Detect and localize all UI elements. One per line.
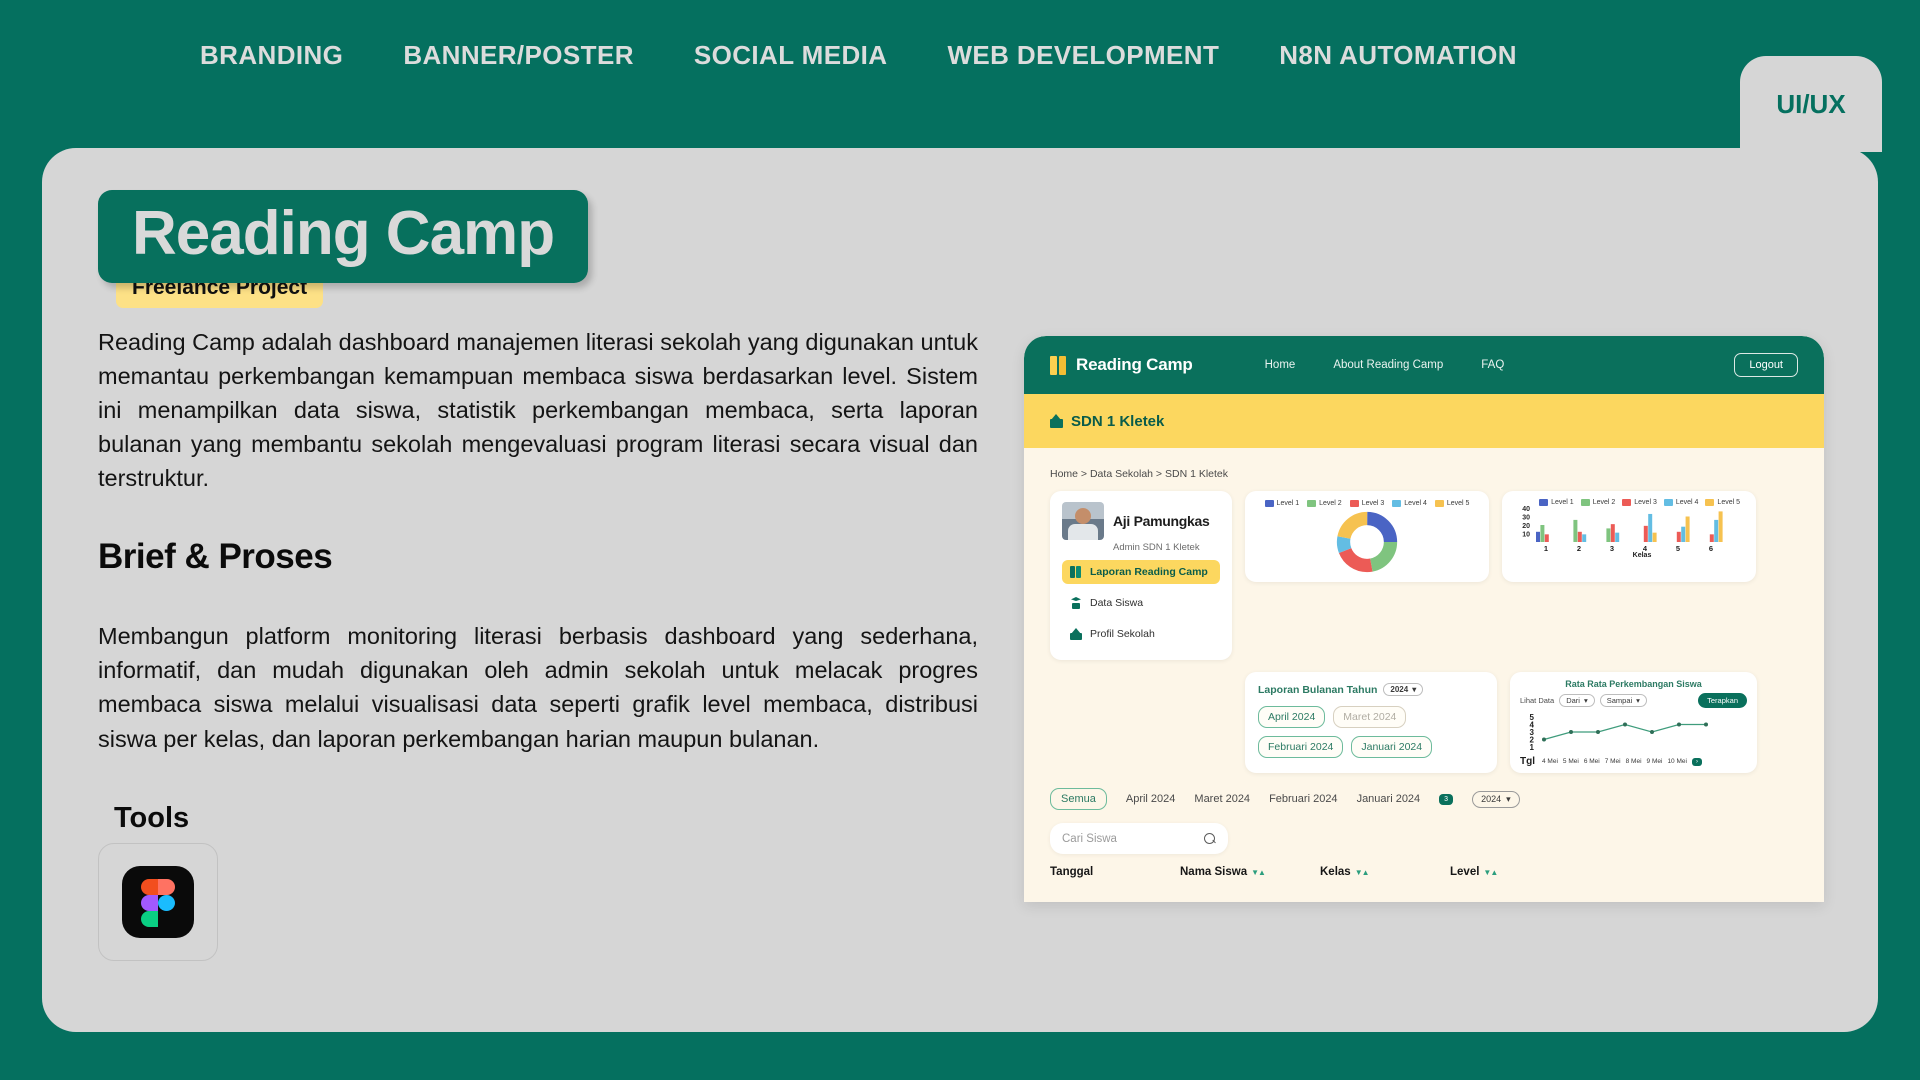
sort-icon[interactable]: ▼▲ [1355,868,1369,877]
mockup-body: Home > Data Sekolah > SDN 1 Kletek Aji P… [1024,448,1824,878]
line-chart-xaxis: Tgl 4 Mei5 Mei6 Mei7 Mei8 Mei9 Mei10 Mei… [1520,756,1747,767]
profile-role: Admin SDN 1 Kletek [1113,542,1220,553]
brief-heading: Brief & Proses [98,537,978,577]
svg-text:6: 6 [1709,544,1713,553]
xaxis-tick: 5 Mei [1563,758,1579,765]
mockup-brand: Reading Camp [1050,355,1193,375]
svg-text:2: 2 [1577,544,1581,553]
profile-header: Aji Pamungkas [1062,502,1220,540]
nav-tab-ui-ux[interactable]: UI/UX [1740,56,1882,152]
mock-nav-home[interactable]: Home [1265,359,1296,371]
nav-item-n8n-automation[interactable]: N8N AUTOMATION [1279,40,1517,113]
sidebar-item-data-siswa[interactable]: Data Siswa [1062,591,1220,615]
mockup-nav: Home About Reading Camp FAQ [1265,359,1505,371]
to-date-value: Sampai [1607,696,1632,705]
xaxis-tick: 9 Mei [1647,758,1663,765]
avatar [1062,502,1104,540]
column-label: Tanggal [1050,866,1093,878]
cards-row-2: Laporan Bulanan Tahun 2024 ▾ April 2024M… [1050,672,1798,773]
line-chart-title: Rata Rata Perkembangan Siswa [1520,679,1747,689]
filter-chip[interactable]: Februari 2024 [1269,793,1338,805]
bar-chart: 40302010123456Kelas [1512,498,1746,556]
xaxis-label: Tgl [1520,756,1535,767]
donut-chart [1255,511,1479,573]
apply-button[interactable]: Terapkan [1698,693,1747,708]
from-date-value: Dari [1566,696,1580,705]
from-date-select[interactable]: Dari ▾ [1559,694,1595,707]
laporan-title-row: Laporan Bulanan Tahun 2024 ▾ [1258,683,1484,696]
month-chip-list: April 2024Maret 2024Februari 2024Januari… [1258,706,1484,758]
book-icon [1070,566,1082,578]
sidebar-item-label: Data Siswa [1090,597,1143,609]
line-chart-card: Rata Rata Perkembangan Siswa Lihat Data … [1510,672,1757,773]
figma-icon [122,866,194,938]
laporan-bulanan-card: Laporan Bulanan Tahun 2024 ▾ April 2024M… [1245,672,1497,773]
svg-text:30: 30 [1522,515,1530,522]
table-column-header[interactable]: Tanggal [1050,866,1180,878]
logout-button[interactable]: Logout [1734,353,1798,377]
mockup-topbar: Reading Camp Home About Reading Camp FAQ… [1024,336,1824,394]
svg-text:5: 5 [1676,544,1680,553]
svg-text:40: 40 [1522,506,1530,513]
school-name: SDN 1 Kletek [1071,413,1164,430]
legend-item: Level 1 [1265,500,1300,507]
svg-text:1: 1 [1544,544,1548,553]
project-description: Reading Camp adalah dashboard manajemen … [98,325,978,495]
nav-item-web-development[interactable]: WEB DEVELOPMENT [947,40,1219,113]
legend-item: Level 4 [1392,500,1427,507]
bar-svg: 40302010123456Kelas [1512,498,1746,560]
filter-chip[interactable]: Maret 2024 [1194,793,1250,805]
month-chip[interactable]: Februari 2024 [1258,736,1343,758]
project-info-column: Freelance Project Reading Camp Reading C… [98,190,978,961]
breadcrumb: Home > Data Sekolah > SDN 1 Kletek [1050,468,1798,480]
column-label: Kelas [1320,866,1351,878]
page-title: Reading Camp [98,190,588,283]
book-icon [1050,356,1067,375]
svg-text:10: 10 [1522,532,1530,539]
dashboard-mockup: Reading Camp Home About Reading Camp FAQ… [1024,336,1824,902]
line-chart: 54321 [1520,711,1747,755]
line-chart-controls: Lihat Data Dari ▾ Sampai ▾ Terapkan [1520,693,1747,708]
xaxis-tick: 10 Mei [1667,758,1687,765]
sidebar-item-label: Profil Sekolah [1090,628,1155,640]
top-navigation: BRANDING BANNER/POSTER SOCIAL MEDIA WEB … [0,0,1920,152]
svg-text:3: 3 [1610,544,1614,553]
laporan-title: Laporan Bulanan Tahun [1258,684,1377,696]
project-title-group: Freelance Project Reading Camp [98,190,628,283]
svg-text:1: 1 [1530,743,1535,752]
sidebar-item-profil-sekolah[interactable]: Profil Sekolah [1062,622,1220,646]
xaxis-tick: 6 Mei [1584,758,1600,765]
search-input[interactable]: Cari Siswa [1050,823,1228,854]
mock-nav-faq[interactable]: FAQ [1481,359,1504,371]
filter-chip[interactable]: April 2024 [1126,793,1176,805]
svg-text:20: 20 [1522,523,1530,530]
chevron-down-icon: ▾ [1506,794,1511,805]
cards-row-1: Aji Pamungkas Admin SDN 1 Kletek Laporan… [1050,491,1798,660]
xaxis-tick: 8 Mei [1626,758,1642,765]
nav-items: BRANDING BANNER/POSTER SOCIAL MEDIA WEB … [0,0,1517,152]
legend-item: Level 2 [1307,500,1342,507]
month-chip[interactable]: Januari 2024 [1351,736,1432,758]
year-value: 2024 [1390,685,1408,694]
chevron-down-icon: ▾ [1636,696,1640,705]
xaxis-tick: 7 Mei [1605,758,1621,765]
year-select[interactable]: 2024 ▾ [1383,683,1423,696]
nav-item-branding[interactable]: BRANDING [200,40,343,113]
legend-item: Level 3 [1350,500,1385,507]
donut-svg [1336,511,1398,573]
year-filter-value: 2024 [1481,794,1501,804]
column-label: Level [1450,866,1479,878]
count-badge: 3 [1439,794,1453,805]
filter-chip[interactable]: Januari 2024 [1357,793,1421,805]
search-icon [1204,833,1216,845]
table-header: TanggalNama Siswa▼▲Kelas▼▲Level▼▲ [1050,866,1798,878]
sidebar-item-laporan-reading-camp[interactable]: Laporan Reading Camp [1062,560,1220,584]
filter-chip[interactable]: Semua [1050,788,1107,810]
search-placeholder: Cari Siswa [1062,833,1117,845]
column-label: Nama Siswa [1180,866,1247,878]
filter-chip-row: SemuaApril 2024Maret 2024Februari 2024Ja… [1050,788,1798,810]
month-chip[interactable]: Maret 2024 [1333,706,1406,728]
nav-item-social-media[interactable]: SOCIAL MEDIA [694,40,888,113]
month-chip[interactable]: April 2024 [1258,706,1325,728]
sidebar-item-label: Laporan Reading Camp [1090,566,1208,578]
lihat-data-label: Lihat Data [1520,696,1554,705]
xaxis-ticks: 4 Mei5 Mei6 Mei7 Mei8 Mei9 Mei10 Mei [1542,758,1687,765]
xaxis-tick: 4 Mei [1542,758,1558,765]
line-svg: 54321 [1520,711,1747,755]
profile-card: Aji Pamungkas Admin SDN 1 Kletek Laporan… [1050,491,1232,660]
brand-name: Reading Camp [1076,355,1193,375]
tool-figma[interactable] [98,843,218,961]
bar-chart-card: Level 1Level 2Level 3Level 4Level 5 4030… [1502,491,1756,582]
sort-icon[interactable]: ▼▲ [1483,868,1497,877]
mock-nav-about[interactable]: About Reading Camp [1333,359,1443,371]
svg-text:Kelas: Kelas [1633,552,1652,559]
school-bar: SDN 1 Kletek [1024,394,1824,448]
sort-icon[interactable]: ▼▲ [1251,868,1265,877]
home-icon [1050,414,1063,428]
table-column-header[interactable]: Nama Siswa▼▲ [1180,866,1320,878]
brief-text: Membangun platform monitoring literasi b… [98,619,978,755]
legend-item: Level 5 [1435,500,1470,507]
to-date-select[interactable]: Sampai ▾ [1600,694,1647,707]
donut-chart-card: Level 1Level 2Level 3Level 4Level 5 [1245,491,1489,582]
donut-legend: Level 1Level 2Level 3Level 4Level 5 [1255,500,1479,507]
table-column-header[interactable]: Level▼▲ [1450,866,1570,878]
chevron-down-icon: ▾ [1584,696,1588,705]
nav-item-banner-poster[interactable]: BANNER/POSTER [403,40,634,113]
table-column-header[interactable]: Kelas▼▲ [1320,866,1450,878]
year-filter-select[interactable]: 2024▾ [1472,791,1520,808]
profile-name: Aji Pamungkas [1113,513,1209,529]
next-page-button[interactable]: › [1692,758,1702,766]
student-icon [1070,597,1082,609]
tools-heading: Tools [114,802,978,835]
chevron-down-icon: ▾ [1412,685,1416,694]
home-icon [1070,628,1082,640]
